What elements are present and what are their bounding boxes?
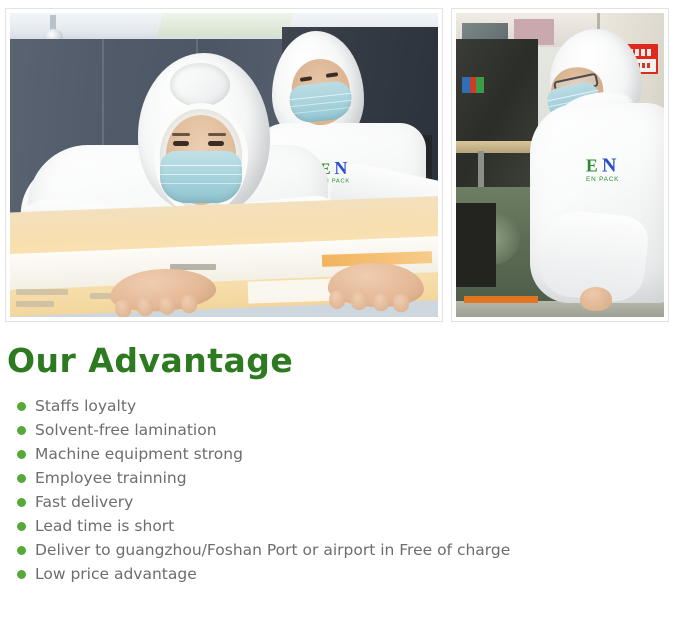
bullet-icon	[17, 498, 26, 507]
worker-eye	[208, 141, 224, 146]
list-item-label: Machine equipment strong	[35, 442, 243, 466]
machine-indicator-lights	[462, 77, 484, 93]
logo-letter-n: N	[602, 156, 615, 175]
equipment-box	[456, 203, 496, 287]
list-item: Deliver to guangzhou/Foshan Port or airp…	[0, 538, 680, 562]
list-item: Staffs loyalty	[0, 394, 680, 418]
finger	[115, 299, 132, 317]
list-item-label: Solvent-free lamination	[35, 418, 217, 442]
finger	[351, 292, 368, 311]
bullet-icon	[17, 474, 26, 483]
bullet-icon	[17, 426, 26, 435]
list-item-label: Staffs loyalty	[35, 394, 136, 418]
worker: E N EN PACK	[508, 29, 664, 317]
finger	[329, 291, 346, 310]
finger	[373, 293, 390, 312]
worker-eyebrow	[172, 133, 190, 136]
finger	[159, 296, 176, 315]
bullet-icon	[17, 522, 26, 531]
list-item: Employee trainning	[0, 466, 680, 490]
worker-eyebrow	[208, 133, 226, 136]
bullet-icon	[17, 570, 26, 579]
finger	[393, 294, 410, 313]
list-item-label: Lead time is short	[35, 514, 174, 538]
list-item-label: Employee trainning	[35, 466, 187, 490]
bullet-icon	[17, 402, 26, 411]
logo-letter-n: N	[334, 160, 346, 177]
list-item: Machine equipment strong	[0, 442, 680, 466]
hood-fold	[170, 63, 230, 107]
list-item: Solvent-free lamination	[0, 418, 680, 442]
photo-canvas-right: E N EN PACK	[456, 13, 664, 317]
logo-subtitle: EN PACK	[586, 175, 619, 182]
bullet-icon	[17, 450, 26, 459]
logo-letter-e: E	[586, 157, 597, 175]
list-item: Lead time is short	[0, 514, 680, 538]
bullet-icon	[17, 546, 26, 555]
list-item-label: Deliver to guangzhou/Foshan Port or airp…	[35, 538, 510, 562]
list-item: Low price advantage	[0, 562, 680, 586]
worker-hand	[580, 287, 612, 311]
section-title: Our Advantage	[0, 330, 680, 382]
print-mark	[16, 301, 54, 307]
finger	[137, 298, 154, 317]
list-item: Fast delivery	[0, 490, 680, 514]
print-mark	[16, 289, 68, 295]
finger	[180, 295, 197, 314]
worker-eye	[173, 141, 189, 146]
company-logo: E N EN PACK	[586, 157, 652, 191]
gallery-image-workers-inspecting-printed-sheets[interactable]: E N EN PACK	[5, 8, 443, 322]
photo-canvas-left: E N EN PACK	[10, 13, 438, 317]
list-item-label: Low price advantage	[35, 562, 197, 586]
list-item-label: Fast delivery	[35, 490, 133, 514]
gallery-image-worker-at-machine[interactable]: E N EN PACK	[451, 8, 669, 322]
advantage-list: Staffs loyalty Solvent-free lamination M…	[0, 394, 680, 586]
advantage-section: Our Advantage Staffs loyalty Solvent-fre…	[0, 330, 680, 586]
page-root: E N EN PACK	[0, 0, 680, 618]
face-mask	[160, 151, 242, 203]
image-gallery: E N EN PACK	[0, 0, 680, 330]
